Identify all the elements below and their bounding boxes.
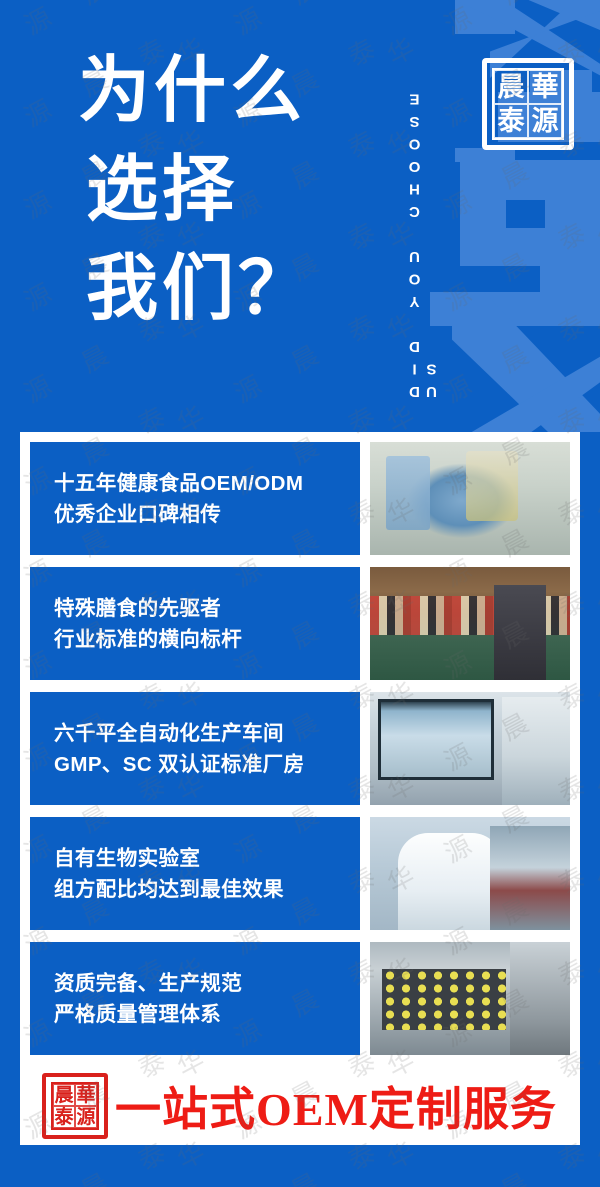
- watermark-text: 华 源 晨 泰: [590, 1125, 600, 1187]
- watermark-text: 华 源 晨 泰: [590, 849, 600, 992]
- feature-card[interactable]: 特殊膳食的先驱者 行业标准的横向标杆: [30, 567, 570, 680]
- feature-card-line-2: GMP、SC 双认证标准厂房: [54, 749, 360, 780]
- feature-card-photo: [370, 942, 570, 1055]
- feature-card[interactable]: 六千平全自动化生产车间 GMP、SC 双认证标准厂房: [30, 692, 570, 805]
- watermark-text: 华 源 晨 泰: [590, 757, 600, 900]
- feature-card-photo: [370, 817, 570, 930]
- feature-card-photo: [370, 567, 570, 680]
- feature-card-text: 资质完备、生产规范 严格质量管理体系: [30, 942, 360, 1055]
- company-seal-logo: 晨 華 泰 源: [482, 58, 574, 150]
- vertical-english-tagline: DID YOU CHOOSE US: [406, 20, 440, 400]
- seal-char-2: 華: [75, 1084, 97, 1106]
- page-title-line-3: 我们？: [78, 240, 378, 339]
- feature-card-line-1: 特殊膳食的先驱者: [54, 593, 360, 624]
- watermark-text: 华 源 晨 泰: [590, 665, 600, 808]
- feature-card-text: 十五年健康食品OEM/ODM 优秀企业口碑相传: [30, 442, 360, 555]
- feature-card-list: 十五年健康食品OEM/ODM 优秀企业口碑相传 特殊膳食的先驱者 行业标准的横向…: [30, 442, 570, 1055]
- seal-char-4: 源: [528, 104, 562, 138]
- feature-card-line-2: 组方配比均达到最佳效果: [54, 874, 360, 905]
- seal-char-2: 華: [528, 70, 562, 104]
- feature-card-text: 六千平全自动化生产车间 GMP、SC 双认证标准厂房: [30, 692, 360, 805]
- feature-card-frame: 十五年健康食品OEM/ODM 优秀企业口碑相传 特殊膳食的先驱者 行业标准的横向…: [20, 432, 580, 1145]
- watermark-text: 华 源 晨 泰: [590, 481, 600, 624]
- feature-card-line-1: 六千平全自动化生产车间: [54, 718, 360, 749]
- feature-card-text: 特殊膳食的先驱者 行业标准的横向标杆: [30, 567, 360, 680]
- card-spacer: [360, 692, 370, 805]
- watermark-text: 华 源 晨 泰: [590, 573, 600, 716]
- seal-grid: 晨 華 泰 源: [51, 1082, 99, 1130]
- feature-card[interactable]: 十五年健康食品OEM/ODM 优秀企业口碑相传: [30, 442, 570, 555]
- hero-section: 为什么 选择 我们？ DID YOU CHOOSE US 晨 華 泰 源: [0, 0, 600, 432]
- feature-card-line-1: 十五年健康食品OEM/ODM: [54, 468, 360, 499]
- feature-card-line-2: 严格质量管理体系: [54, 999, 360, 1030]
- page-title-line-1: 为什么: [78, 42, 378, 141]
- page-title: 为什么 选择 我们？: [78, 42, 378, 339]
- seal-char-3: 泰: [53, 1106, 75, 1128]
- cta-banner-text: 一站式OEM定制服务: [108, 1073, 570, 1139]
- seal-grid: 晨 華 泰 源: [492, 68, 564, 140]
- feature-card-photo: [370, 692, 570, 805]
- card-spacer: [360, 567, 370, 680]
- seal-char-3: 泰: [494, 104, 528, 138]
- card-spacer: [360, 942, 370, 1055]
- feature-card-text: 自有生物实验室 组方配比均达到最佳效果: [30, 817, 360, 930]
- card-spacer: [360, 817, 370, 930]
- feature-card-line-2: 行业标准的横向标杆: [54, 624, 360, 655]
- watermark-text: 华 源 晨 泰: [590, 941, 600, 1084]
- feature-card-line-1: 资质完备、生产规范: [54, 968, 360, 999]
- company-seal-red: 晨 華 泰 源: [42, 1073, 108, 1139]
- feature-card-line-2: 优秀企业口碑相传: [54, 499, 360, 530]
- seal-char-4: 源: [75, 1106, 97, 1128]
- card-spacer: [360, 442, 370, 555]
- seal-char-1: 晨: [53, 1084, 75, 1106]
- page-title-line-2: 选择: [78, 141, 378, 240]
- bottom-cta-banner[interactable]: 晨 華 泰 源 一站式OEM定制服务: [30, 1067, 570, 1145]
- watermark-text: 华 源 晨 泰: [590, 1033, 600, 1176]
- feature-card[interactable]: 资质完备、生产规范 严格质量管理体系: [30, 942, 570, 1055]
- feature-card-line-1: 自有生物实验室: [54, 843, 360, 874]
- feature-card[interactable]: 自有生物实验室 组方配比均达到最佳效果: [30, 817, 570, 930]
- seal-char-1: 晨: [494, 70, 528, 104]
- feature-card-photo: [370, 442, 570, 555]
